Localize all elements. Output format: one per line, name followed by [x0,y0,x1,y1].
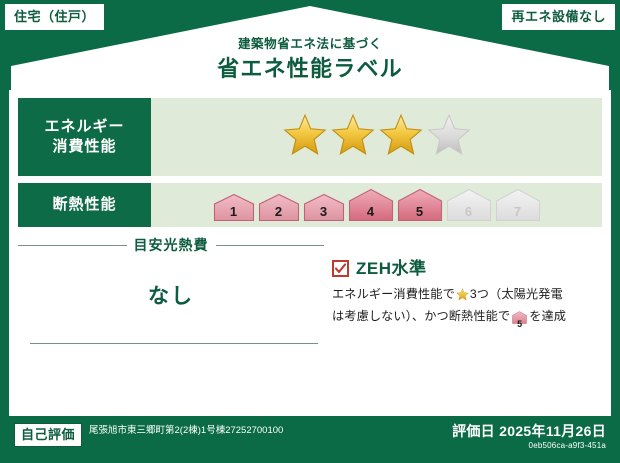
insulation-level-6: 6 [446,188,492,222]
insulation-performance-scale-cell: 1234567 [151,183,602,227]
footer: 自己評価 尾張旭市東三郷町第2(2棟)1号棟27252700100 評価日 20… [0,416,620,463]
insulation-level-4: 4 [348,188,394,222]
utility-cost-bottom-rule [30,343,318,344]
zeh-description: エネルギー消費性能で 3つ（太陽光発電は考慮しない）、か [332,285,598,330]
zeh-desc-part3: を達成 [529,309,566,323]
star-rating [283,113,471,162]
rule-left [18,245,127,246]
evaluation-date-label: 評価日 [452,423,495,439]
insulation-level-5-number: 5 [397,205,443,218]
energy-performance-label: 建築物省エネ法に基づく 省エネ性能ラベル 住宅（住戸） 再エネ設備なし エネルギ… [0,0,620,463]
utility-cost-value: なし [18,280,324,310]
insulation-level-2: 2 [258,193,300,222]
badge-renewable-equipment: 再エネ設備なし [502,4,615,30]
zeh-box: ZEH水準 エネルギー消費性能で [324,234,602,356]
insulation-level-scale: 1234567 [213,188,541,222]
evaluation-date-value: 2025年11月26日 [499,423,606,439]
insulation-level-3: 3 [303,193,345,222]
energy-performance-row: エネルギー 消費性能 [18,98,602,176]
insulation-level-6-number: 6 [446,205,492,218]
page-title: 省エネ性能ラベル [0,58,620,80]
insulation-level-5: 5 [397,188,443,222]
label-body-panel: エネルギー 消費性能 断熱性能 1234567 目安光熱費 [9,90,611,416]
utility-cost-title: 目安光熱費 [134,238,209,252]
insulation-level-4-number: 4 [348,205,394,218]
star-icon-filled [283,113,327,162]
house-icon-inline: 5 [512,311,527,330]
star-icon-filled [331,113,375,162]
insulation-level-2-number: 2 [258,205,300,218]
insulation-level-7-number: 7 [495,205,541,218]
house-icon-inline-level: 5 [512,320,527,329]
lower-section: 目安光熱費 なし ZEH水準 エネルギー消費性能で [18,234,602,356]
insulation-level-7: 7 [495,188,541,222]
zeh-header: ZEH水準 [332,260,598,277]
utility-cost-box: 目安光熱費 なし [18,234,324,356]
zeh-title: ZEH水準 [356,260,427,277]
insulation-performance-row: 断熱性能 1234567 [18,183,602,227]
star-icon-inline [456,288,469,307]
zeh-checkbox[interactable] [332,260,349,277]
self-evaluation-badge: 自己評価 [14,423,82,447]
footer-right: 評価日 2025年11月26日 0eb506ca-a9f3-451a [452,423,606,450]
utility-cost-header: 目安光熱費 [18,238,324,252]
building-address: 尾張旭市東三郷町第2(2棟)1号棟27252700100 [89,423,283,438]
badge-dwelling-type: 住宅（住戸） [5,4,104,30]
insulation-performance-label-cell: 断熱性能 [18,183,151,227]
evaluation-id: 0eb506ca-a9f3-451a [452,442,606,450]
zeh-desc-star-count: 3つ（太陽光発電 [470,287,563,301]
check-icon [335,263,346,274]
rule-right [216,245,325,246]
star-icon-filled [379,113,423,162]
zeh-desc-part1: エネルギー消費性能で [332,287,455,301]
footer-left: 自己評価 尾張旭市東三郷町第2(2棟)1号棟27252700100 [14,423,283,447]
energy-performance-stars-cell [151,98,602,176]
star-icon-empty [427,113,471,162]
insulation-level-1: 1 [213,193,255,222]
zeh-desc-part2: は考慮しない）、かつ断熱性能で [332,309,510,323]
energy-performance-label-cell: エネルギー 消費性能 [18,98,151,176]
energy-label-line1: エネルギー [44,118,124,135]
insulation-level-1-number: 1 [213,205,255,218]
header-text: 建築物省エネ法に基づく 省エネ性能ラベル [0,38,620,80]
insulation-level-3-number: 3 [303,205,345,218]
evaluation-date: 評価日 2025年11月26日 [452,424,606,439]
header-subtitle: 建築物省エネ法に基づく [0,38,620,51]
energy-label-line2: 消費性能 [52,138,116,155]
